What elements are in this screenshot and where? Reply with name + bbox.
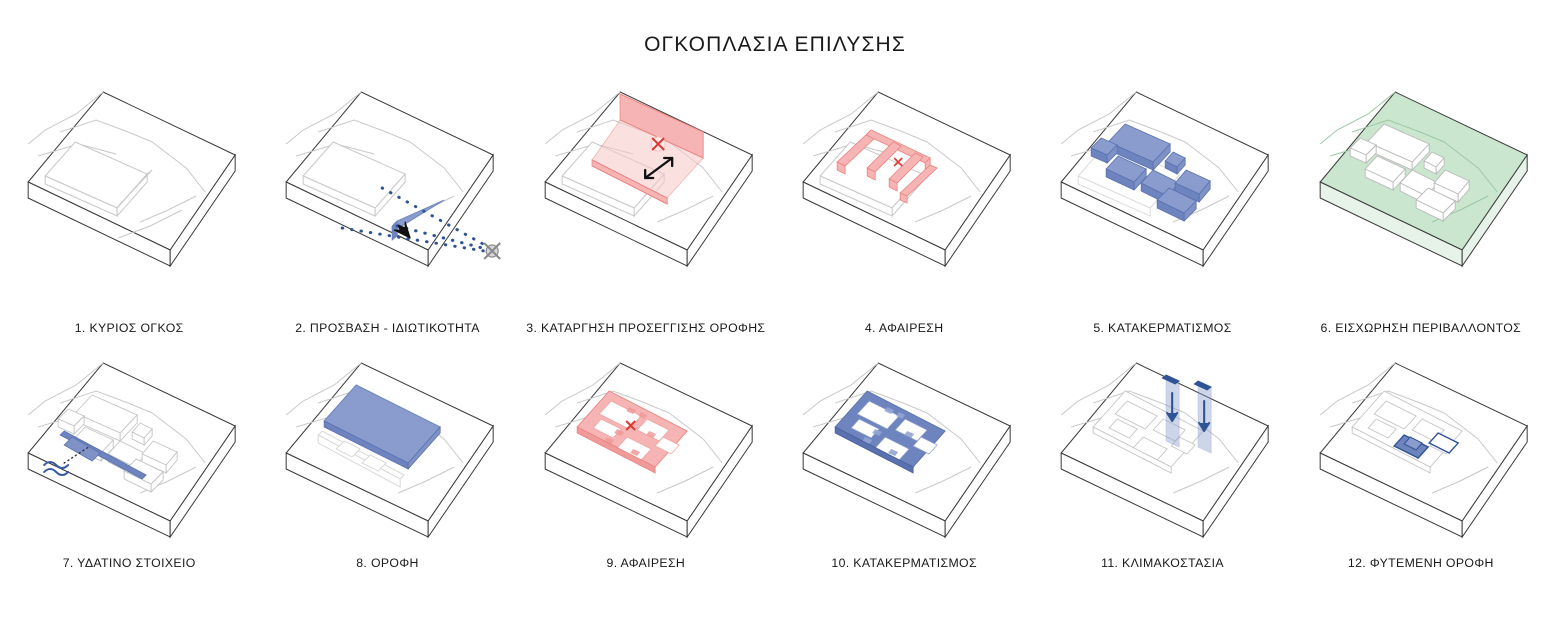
panel-4-afairesi[interactable] (775, 70, 1033, 310)
panel-12-fytemeni-orofi[interactable] (1292, 345, 1550, 545)
panel-1-kyrios-ogkos[interactable] (0, 70, 258, 310)
caption-panel-10: 10. ΚΑΤΑΚΕΡΜΑΤΙΣΜΟΣ (775, 545, 1033, 580)
terrain-block (286, 92, 493, 266)
panel-9-afairesi[interactable] (517, 345, 775, 545)
caption-panel-9: 9. ΑΦΑΙΡΕΣΗ (517, 545, 775, 580)
x-marker (484, 243, 500, 259)
terrain-block (803, 92, 1010, 266)
page-title: ΟΓΚΟΠΛΑΣΙΑ ΕΠΙΛΥΣΗΣ (0, 33, 1550, 57)
caption-panel-3: 3. ΚΑΤΑΡΓΗΣΗ ΠΡΟΣΕΓΓΙΣΗΣ ΟΡΟΦΗΣ (517, 310, 775, 345)
panel-2-prosvasi-idiotikotita[interactable] (258, 70, 516, 310)
panel-11-klimakostasia[interactable] (1033, 345, 1291, 545)
caption-panel-6: 6. ΕΙΣΧΩΡΗΣΗ ΠΕΡΙΒΑΛΛΟΝΤΟΣ (1292, 310, 1550, 345)
panel-5-katakermatismos[interactable] (1033, 70, 1291, 310)
panel-8-orofi[interactable] (258, 345, 516, 545)
caption-panel-2: 2. ΠΡΟΣΒΑΣΗ - ΙΔΙΩΤΙΚΟΤΗΤΑ (258, 310, 516, 345)
panel-10-katakermatismos[interactable] (775, 345, 1033, 545)
panel-7-ydatino-stoicheio[interactable] (0, 345, 258, 545)
caption-panel-8: 8. ΟΡΟΦΗ (258, 545, 516, 580)
terrain-block (28, 92, 235, 266)
caption-panel-11: 11. ΚΛΙΜΑΚΟΣΤΑΣΙΑ (1033, 545, 1291, 580)
caption-panel-5: 5. ΚΑΤΑΚΕΡΜΑΤΙΣΜΟΣ (1033, 310, 1291, 345)
caption-panel-4: 4. ΑΦΑΙΡΕΣΗ (775, 310, 1033, 345)
panel-3-katargisi-prosengisis-orofis[interactable] (517, 70, 775, 310)
caption-panel-12: 12. ΦΥΤΕΜΕΝΗ ΟΡΟΦΗ (1292, 545, 1550, 580)
red-x-marker (651, 137, 665, 151)
caption-panel-7: 7. ΥΔΑΤΙΝΟ ΣΤΟΙΧΕΙΟ (0, 545, 258, 580)
diagram-board: ΟΓΚΟΠΛΑΣΙΑ ΕΠΙΛΥΣΗΣ (0, 0, 1550, 632)
panel-grid: 1. ΚΥΡΙΟΣ ΟΓΚΟΣ 2. ΠΡΟΣΒΑΣΗ - ΙΔΙΩΤΙΚΟΤΗ… (0, 70, 1550, 610)
panel-6-eischorisi-perivallontos[interactable] (1292, 70, 1550, 310)
caption-panel-1: 1. ΚΥΡΙΟΣ ΟΓΚΟΣ (0, 310, 258, 345)
